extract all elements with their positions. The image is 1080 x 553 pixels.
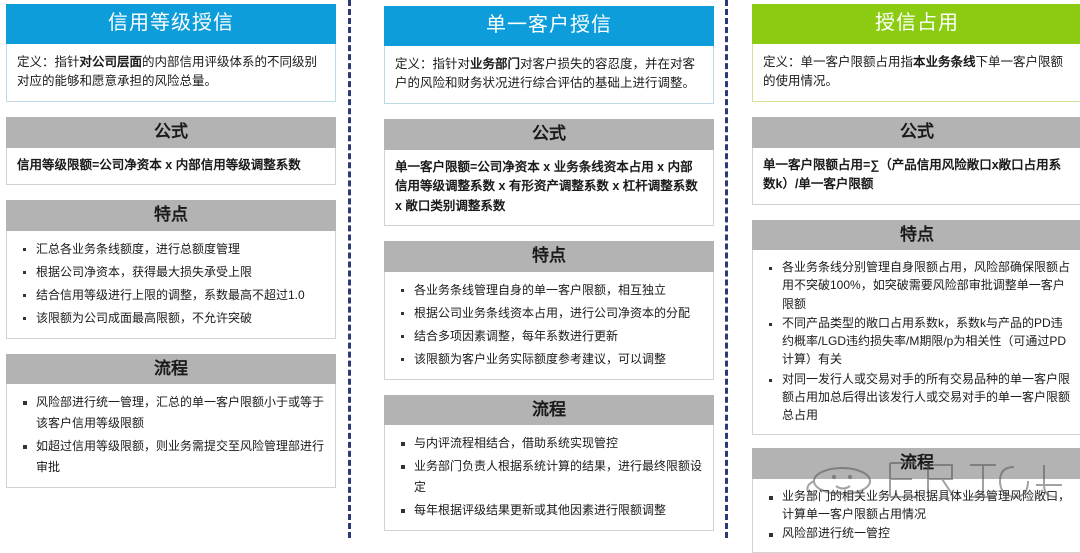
section-body-process: 风险部进行统一管理，汇总的单一客户限额小于或等于该客户信用等级限额 如超过信用等…	[6, 384, 336, 488]
definition-prefix: 定义：指针	[17, 55, 80, 69]
definition-prefix: 定义：单一客户限额占用指	[763, 55, 913, 69]
list-item: 各业务条线分别管理自身限额占用，风险部确保限额占用不突破100%，如突破需要风险…	[780, 258, 1071, 313]
list-item: 汇总各业务条线额度，进行总额度管理	[34, 239, 325, 260]
section-heading-formula: 公式	[6, 117, 336, 148]
definition-emphasis: 对公司层面	[80, 55, 143, 69]
list-item: 如超过信用等级限额，则业务需提交至风险管理部进行审批	[34, 436, 325, 478]
section-heading-features: 特点	[752, 220, 1080, 251]
section-body-process: 与内评流程相结合，借助系统实现管控 业务部门负责人根据系统计算的结果，进行最终限…	[384, 425, 714, 531]
column-divider-2	[725, 0, 728, 538]
card-credit-utilization: 授信占用 定义：单一客户限额占用指本业务条线下单一客户限额的使用情况。 公式 单…	[752, 4, 1080, 553]
formula-text: 信用等级限额=公司净资本 x 内部信用等级调整系数	[17, 156, 325, 176]
section-body-features: 汇总各业务条线额度，进行总额度管理 根据公司净资本，获得最大损失承受上限 结合信…	[6, 231, 336, 339]
slide-canvas: 信用等级授信 定义：指针对公司层面的内部信用评级体系的不同级别对应的能够和愿意承…	[0, 0, 1080, 538]
section-heading-formula: 公式	[752, 117, 1080, 148]
section-heading-features: 特点	[384, 241, 714, 272]
list-item: 该限额为客户业务实际额度参考建议，可以调整	[412, 349, 703, 370]
formula-text: 单一客户限额=公司净资本 x 业务条线资本占用 x 内部信用等级调整系数 x 有…	[395, 158, 703, 217]
card-definition: 定义：指针对业务部门对客户损失的容忍度，并在对客户的风险和财务状况进行综合评估的…	[384, 46, 714, 104]
section-body-process: 业务部门的相关业务人员根据具体业务管理风险敞口，计算单一客户限额占用情况 风险部…	[752, 479, 1080, 553]
formula-text: 单一客户限额占用=∑（产品信用风险敞口x敞口占用系数k）/单一客户限额	[763, 156, 1071, 195]
list-item: 与内评流程相结合，借助系统实现管控	[412, 433, 703, 454]
section-body-formula: 单一客户限额占用=∑（产品信用风险敞口x敞口占用系数k）/单一客户限额	[752, 148, 1080, 205]
card-title: 信用等级授信	[6, 4, 336, 44]
card-single-customer-limit: 单一客户授信 定义：指针对业务部门对客户损失的容忍度，并在对客户的风险和财务状况…	[384, 6, 714, 531]
list-item: 业务部门负责人根据系统计算的结果，进行最终限额设定	[412, 456, 703, 498]
feature-list: 各业务条线分别管理自身限额占用，风险部确保限额占用不突破100%，如突破需要风险…	[763, 258, 1071, 424]
section-body-formula: 单一客户限额=公司净资本 x 业务条线资本占用 x 内部信用等级调整系数 x 有…	[384, 150, 714, 227]
section-heading-process: 流程	[752, 448, 1080, 479]
process-list: 风险部进行统一管理，汇总的单一客户限额小于或等于该客户信用等级限额 如超过信用等…	[17, 392, 325, 478]
card-title: 单一客户授信	[384, 6, 714, 46]
card-title: 授信占用	[752, 4, 1080, 44]
process-list: 与内评流程相结合，借助系统实现管控 业务部门负责人根据系统计算的结果，进行最终限…	[395, 433, 703, 521]
list-item: 该限额为公司成面最高限额，不允许突破	[34, 308, 325, 329]
feature-list: 各业务条线管理自身的单一客户限额，相互独立 根据公司业务条线资本占用，进行公司净…	[395, 280, 703, 370]
process-list: 业务部门的相关业务人员根据具体业务管理风险敞口，计算单一客户限额占用情况 风险部…	[763, 487, 1071, 543]
section-body-formula: 信用等级限额=公司净资本 x 内部信用等级调整系数	[6, 148, 336, 186]
list-item: 结合多项因素调整，每年系数进行更新	[412, 326, 703, 347]
section-heading-formula: 公式	[384, 119, 714, 150]
list-item: 结合信用等级进行上限的调整，系数最高不超过1.0	[34, 285, 325, 306]
feature-list: 汇总各业务条线额度，进行总额度管理 根据公司净资本，获得最大损失承受上限 结合信…	[17, 239, 325, 329]
section-body-features: 各业务条线管理自身的单一客户限额，相互独立 根据公司业务条线资本占用，进行公司净…	[384, 272, 714, 380]
card-definition: 定义：指针对公司层面的内部信用评级体系的不同级别对应的能够和愿意承担的风险总量。	[6, 44, 336, 102]
section-body-features: 各业务条线分别管理自身限额占用，风险部确保限额占用不突破100%，如突破需要风险…	[752, 250, 1080, 435]
list-item: 根据公司净资本，获得最大损失承受上限	[34, 262, 325, 283]
definition-prefix: 定义：指针对	[395, 57, 470, 71]
card-credit-rating-limit: 信用等级授信 定义：指针对公司层面的内部信用评级体系的不同级别对应的能够和愿意承…	[6, 4, 336, 488]
list-item: 对同一发行人或交易对手的所有交易品种的单一客户限额占用加总后得出该发行人或交易对…	[780, 370, 1071, 425]
column-divider-1	[348, 0, 351, 538]
section-heading-process: 流程	[6, 354, 336, 385]
list-item: 风险部进行统一管理，汇总的单一客户限额小于或等于该客户信用等级限额	[34, 392, 325, 434]
section-heading-process: 流程	[384, 395, 714, 426]
list-item: 根据公司业务条线资本占用，进行公司净资本的分配	[412, 303, 703, 324]
list-item: 各业务条线管理自身的单一客户限额，相互独立	[412, 280, 703, 301]
list-item: 每年根据评级结果更新或其他因素进行限额调整	[412, 500, 703, 521]
definition-emphasis: 本业务条线	[913, 55, 976, 69]
definition-emphasis: 业务部门	[470, 57, 520, 71]
list-item: 不同产品类型的敞口占用系数k，系数k与产品的PD违约概率/LGD违约损失率/M期…	[780, 314, 1071, 369]
section-heading-features: 特点	[6, 200, 336, 231]
list-item: 业务部门的相关业务人员根据具体业务管理风险敞口，计算单一客户限额占用情况	[780, 487, 1071, 523]
card-definition: 定义：单一客户限额占用指本业务条线下单一客户限额的使用情况。	[752, 44, 1080, 102]
list-item: 风险部进行统一管控	[780, 524, 1071, 542]
